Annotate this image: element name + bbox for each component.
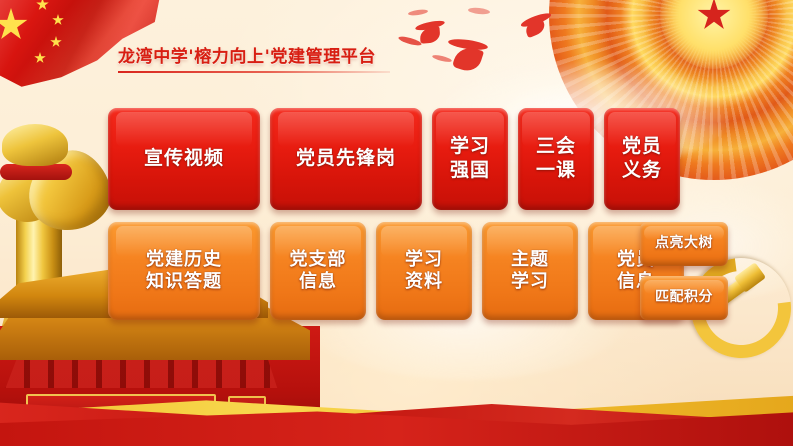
- menu-stack-utility: 点亮大树 匹配积分: [640, 222, 728, 320]
- menu-button-label-line2: 强国: [450, 159, 490, 183]
- menu-button-theme-study[interactable]: 主题 学习: [482, 222, 578, 320]
- dove-icon: [468, 7, 491, 15]
- menu-button-label-line2: 一课: [536, 159, 576, 183]
- menu-button-label: 学习: [405, 249, 443, 271]
- menu-button-three-meetings-one-lesson[interactable]: 三会 一课: [518, 108, 594, 210]
- menu-grid: 宣传视频 党员先锋岗 学习 强国 三会 一课 党员 义务 党建历史 知识答题: [108, 108, 726, 320]
- menu-button-label: 党员: [622, 135, 662, 159]
- menu-button-publicity-video[interactable]: 宣传视频: [108, 108, 260, 210]
- dove-icon: [398, 35, 423, 47]
- menu-button-label: 党员先锋岗: [296, 147, 396, 171]
- menu-button-label: 主题: [511, 249, 549, 271]
- menu-button-label: 党建历史: [146, 249, 222, 271]
- menu-button-label-line2: 义务: [622, 159, 662, 183]
- menu-button-label: 匹配积分: [655, 289, 713, 306]
- menu-button-label: 点亮大树: [655, 235, 713, 252]
- menu-button-label: 三会: [536, 135, 576, 159]
- menu-button-label-line2: 学习: [511, 271, 549, 293]
- dove-icon: [408, 9, 429, 17]
- menu-row-primary: 宣传视频 党员先锋岗 学习 强国 三会 一课 党员 义务: [108, 108, 726, 210]
- menu-button-label-line2: 知识答题: [146, 271, 222, 293]
- title-underline: [118, 71, 390, 73]
- menu-button-label: 宣传视频: [144, 147, 224, 171]
- menu-button-match-points[interactable]: 匹配积分: [640, 276, 728, 320]
- menu-button-party-history-quiz[interactable]: 党建历史 知识答题: [108, 222, 260, 320]
- menu-button-study-materials[interactable]: 学习 资料: [376, 222, 472, 320]
- menu-button-label: 党支部: [290, 249, 347, 271]
- menu-row-secondary: 党建历史 知识答题 党支部 信息 学习 资料 主题 学习 党员 信息: [108, 222, 726, 320]
- menu-button-study-strengthen-nation[interactable]: 学习 强国: [432, 108, 508, 210]
- app-background: 龙湾中学'榕力向上'党建管理平台 宣传视频 党员先锋岗 学习 强国 三会 一课 …: [0, 0, 793, 446]
- menu-button-label-line2: 资料: [405, 271, 443, 293]
- menu-button-party-member-duty[interactable]: 党员 义务: [604, 108, 680, 210]
- menu-button-party-branch-info[interactable]: 党支部 信息: [270, 222, 366, 320]
- menu-button-party-member-pioneer-post[interactable]: 党员先锋岗: [270, 108, 422, 210]
- page-title-block: 龙湾中学'榕力向上'党建管理平台: [118, 42, 390, 73]
- page-title: 龙湾中学'榕力向上'党建管理平台: [118, 42, 390, 67]
- dove-icon: [432, 54, 453, 64]
- menu-button-label-line2: 信息: [299, 271, 337, 293]
- menu-button-light-up-big-tree[interactable]: 点亮大树: [640, 222, 728, 266]
- menu-button-label: 学习: [450, 135, 490, 159]
